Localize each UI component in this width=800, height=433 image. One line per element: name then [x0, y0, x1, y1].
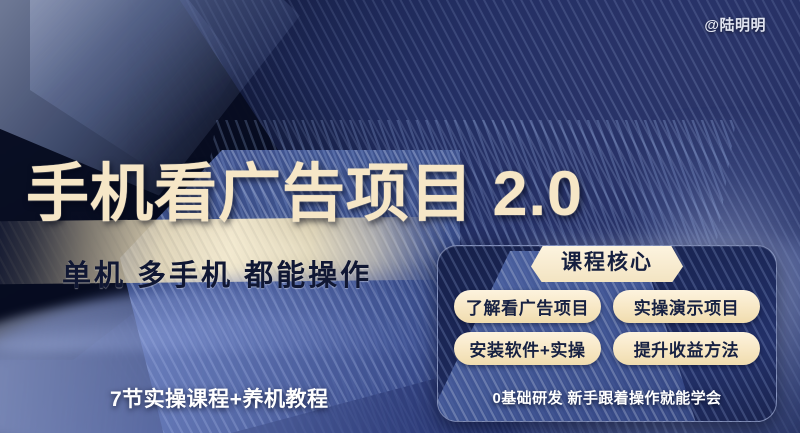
feature-pill-understand-ad-project: 了解看广告项目	[454, 290, 601, 323]
core-panel-header: 课程核心	[531, 245, 683, 282]
subtitle: 单机 多手机 都能操作	[62, 258, 372, 294]
course-tagline: 7节实操课程+养机教程	[110, 386, 328, 414]
core-panel-footer: 0基础研发 新手跟着操作就能学会	[438, 387, 776, 408]
watermark-handle: @陆明明	[704, 14, 766, 35]
promo-poster: @陆明明 手机看广告项目 2.0 单机 多手机 都能操作 7节实操课程+养机教程…	[0, 0, 800, 433]
core-feature-grid: 了解看广告项目 实操演示项目 安装软件+实操 提升收益方法	[454, 290, 760, 365]
feature-pill-live-demo-project: 实操演示项目	[613, 290, 760, 323]
feature-pill-boost-income-method: 提升收益方法	[613, 332, 760, 365]
feature-pill-install-software: 安装软件+实操	[454, 332, 601, 365]
page-title: 手机看广告项目 2.0	[26, 154, 583, 234]
course-core-panel: 课程核心 了解看广告项目 实操演示项目 安装软件+实操 提升收益方法 0基础研发…	[437, 245, 777, 422]
